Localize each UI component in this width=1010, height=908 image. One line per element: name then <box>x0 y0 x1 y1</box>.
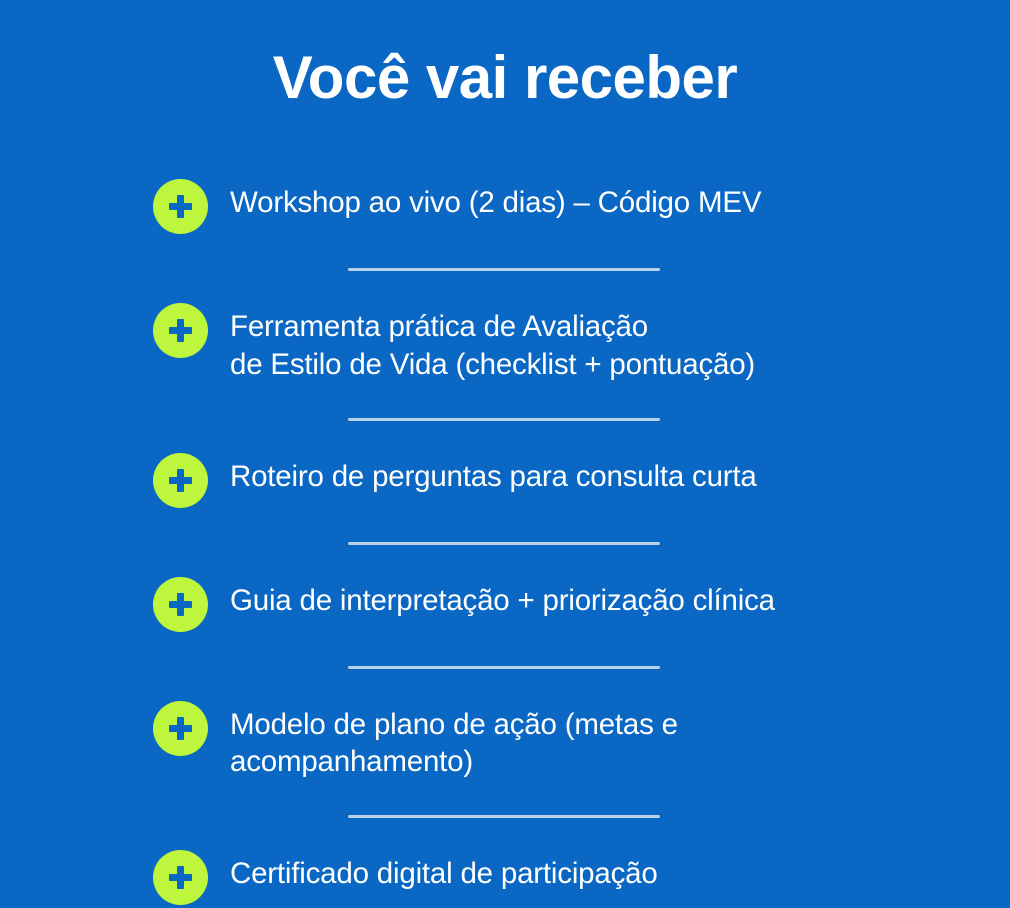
list-item: Ferramenta prática de Avaliação de Estil… <box>153 302 953 384</box>
list-item-label: Modelo de plano de ação (metas e acompan… <box>230 700 953 782</box>
list-divider <box>153 268 953 269</box>
plus-circle-icon <box>153 303 208 358</box>
list-item: Modelo de plano de ação (metas e acompan… <box>153 700 953 782</box>
list-item: Roteiro de perguntas para consulta curta <box>153 452 953 508</box>
list-item: Certificado digital de participação <box>153 849 953 905</box>
plus-circle-icon <box>153 850 208 905</box>
list-item-label: Certificado digital de participação <box>230 849 953 893</box>
plus-circle-icon <box>153 701 208 756</box>
list-item: Guia de interpretação + priorização clín… <box>153 576 953 632</box>
list-divider <box>153 542 953 543</box>
list-item: Workshop ao vivo (2 dias) – Código MEV <box>153 178 953 234</box>
plus-circle-icon <box>153 453 208 508</box>
list-divider <box>153 418 953 419</box>
benefits-list: Workshop ao vivo (2 dias) – Código MEV F… <box>153 178 953 905</box>
benefits-poster: Você vai receber Workshop ao vivo (2 dia… <box>0 0 1010 908</box>
list-divider <box>153 666 953 667</box>
list-item-label: Workshop ao vivo (2 dias) – Código MEV <box>230 178 953 222</box>
list-divider <box>153 815 953 816</box>
list-item-label: Guia de interpretação + priorização clín… <box>230 576 953 620</box>
plus-circle-icon <box>153 577 208 632</box>
list-item-label: Roteiro de perguntas para consulta curta <box>230 452 953 496</box>
plus-circle-icon <box>153 179 208 234</box>
list-item-label: Ferramenta prática de Avaliação de Estil… <box>230 302 953 384</box>
page-title: Você vai receber <box>0 46 1010 109</box>
